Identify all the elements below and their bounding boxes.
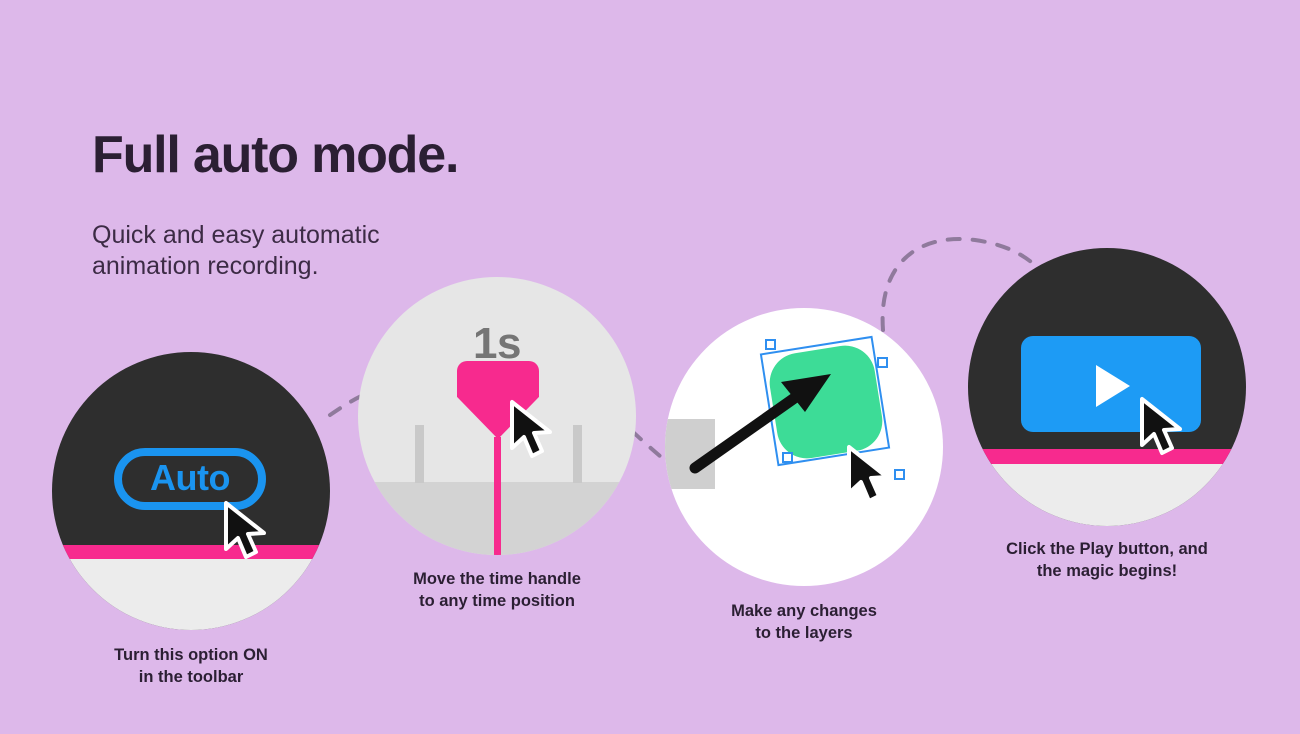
step-1: Auto Turn this option ON in the toolbar: [52, 352, 330, 630]
arrow-cursor: [1136, 396, 1192, 460]
step-3-caption: Make any changes to the layers: [634, 600, 974, 645]
light-panel-floor: [52, 559, 330, 630]
selection-handle-top-right[interactable]: [877, 357, 888, 368]
step-4-bubble: [968, 248, 1246, 526]
play-triangle-icon: [1096, 365, 1130, 407]
arrow-cursor: [843, 444, 899, 508]
step-1-bubble: Auto: [52, 352, 330, 630]
timeline-tick: [415, 425, 424, 483]
step-4: Click the Play button, and the magic beg…: [968, 248, 1246, 526]
step-2-caption: Move the time handle to any time positio…: [327, 568, 667, 613]
step-3: Make any changes to the layers: [665, 308, 943, 586]
arrow-cursor: [506, 399, 562, 463]
illustration-canvas: Full auto mode. Quick and easy automatic…: [0, 0, 1300, 734]
move-arrow-icon: [685, 338, 865, 478]
light-panel-floor: [968, 464, 1246, 526]
page-title: Full auto mode.: [92, 128, 458, 183]
page-subtitle: Quick and easy automatic animation recor…: [92, 220, 380, 281]
arrow-cursor: [220, 500, 276, 564]
pink-divider-bar: [968, 449, 1246, 464]
auto-toggle-label: Auto: [150, 460, 230, 496]
timeline-tick: [573, 425, 582, 483]
step-2: 1s Move the time handle to any time posi…: [358, 277, 636, 555]
step-4-caption: Click the Play button, and the magic beg…: [937, 538, 1277, 583]
pink-divider-bar: [52, 545, 330, 559]
step-1-caption: Turn this option ON in the toolbar: [21, 644, 361, 689]
playhead-stem: [494, 437, 501, 555]
step-3-bubble: [665, 308, 943, 586]
step-2-bubble: 1s: [358, 277, 636, 555]
